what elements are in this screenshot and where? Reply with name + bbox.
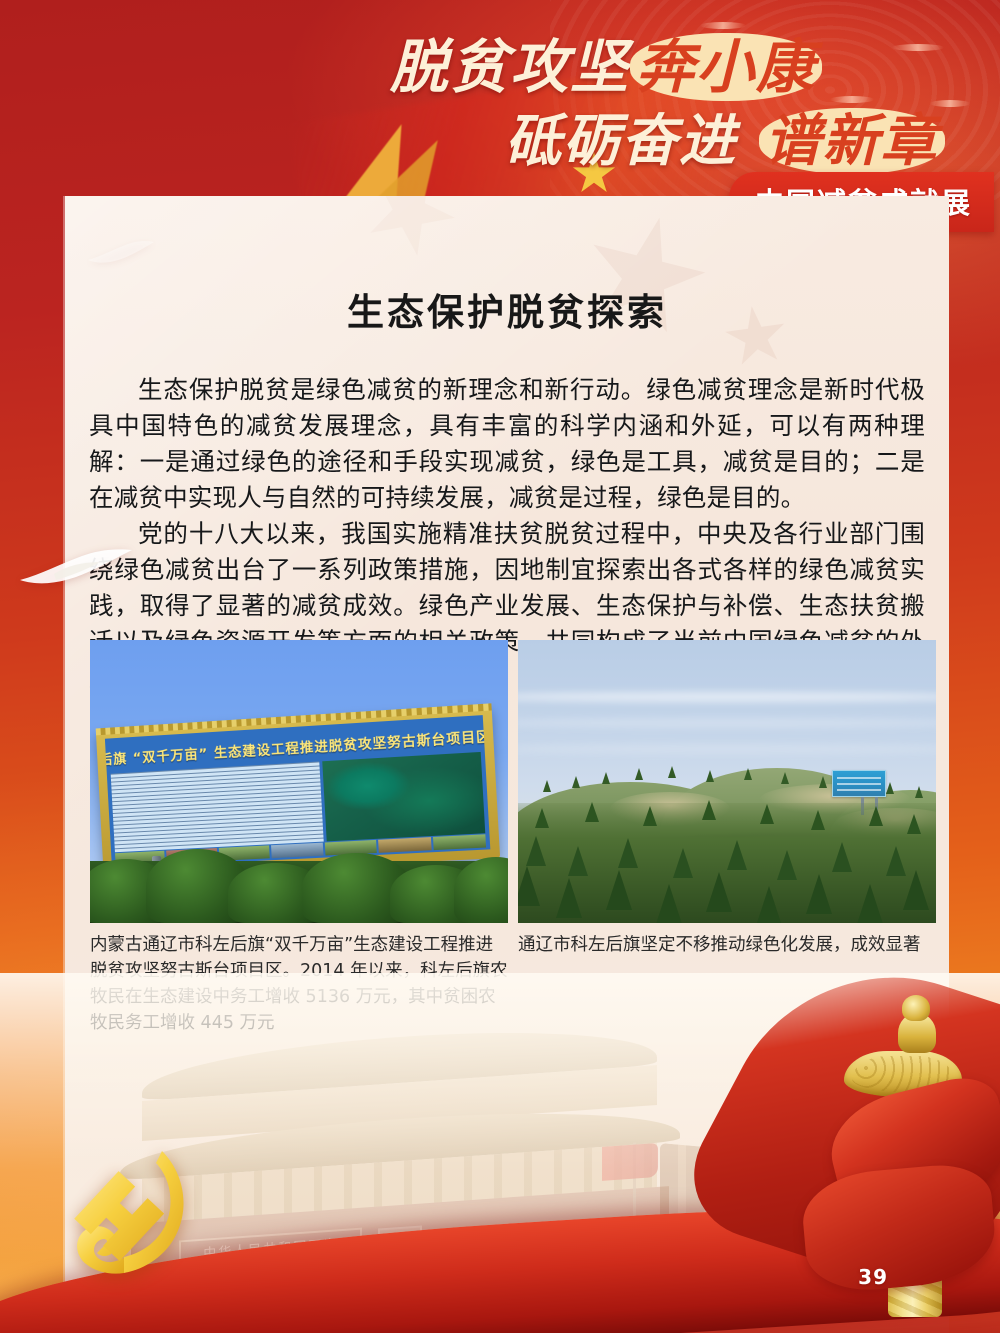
pine-sapling [618, 838, 638, 868]
headline-line-1-highlight: 奔小康 [630, 33, 822, 101]
pine-sapling [907, 814, 921, 834]
pine-sapling [857, 884, 883, 923]
pine-sapling [526, 836, 546, 866]
poster-header: 脱贫攻坚奔小康 砥砺奋进 谱新章 [0, 0, 1000, 200]
pine-sapling [915, 786, 923, 798]
cloud-band [518, 744, 936, 754]
cloud-band [518, 692, 936, 702]
pine-sapling [572, 776, 580, 788]
sign-line [837, 783, 881, 785]
afforestation-photo [518, 640, 936, 923]
billboard-photo: 科左后旗 “双千万亩” 生态建设工程推进脱贫攻坚努古斯台项目区简介 [90, 640, 508, 923]
headline-line-1-plain: 脱贫攻坚 [390, 33, 630, 101]
content-panel: 生态保护脱贫探索 生态保护脱贫是绿色减贫的新理念和新行动。绿色减贫理念是新时代极… [65, 196, 949, 1333]
pine-sapling [886, 782, 894, 794]
pine-sapling [656, 884, 682, 923]
photo-figure-billboard: 科左后旗 “双千万亩” 生态建设工程推进脱贫攻坚努古斯台项目区简介 [90, 640, 508, 1036]
pine-sapling [556, 878, 582, 918]
pine-sapling [806, 874, 832, 914]
flare-dash [892, 44, 944, 51]
page-title: 生态保护脱贫探索 [65, 282, 949, 336]
pine-sapling [781, 772, 789, 784]
pine-sapling [869, 806, 883, 826]
cloud-band [518, 718, 936, 728]
pine-sapling [706, 872, 732, 912]
star-watermark [350, 196, 470, 271]
pine-sapling [606, 870, 632, 910]
pine-sapling [585, 802, 599, 822]
headline-line-2: 砥砺奋进 谱新章 [505, 96, 945, 177]
photo-figure-afforestation: 通辽市科左后旗坚定不移推动绿色化发展，成效显著 [518, 640, 936, 958]
headline-line-1: 脱贫攻坚奔小康 [390, 20, 822, 104]
billboard-map-panel [322, 752, 485, 841]
strip-thumb [378, 837, 431, 853]
pine-sapling [535, 808, 549, 828]
photo-caption: 通辽市科左后旗坚定不移推动绿色化发展，成效显著 [518, 932, 936, 958]
strip-thumb [432, 834, 486, 850]
pine-sapling [727, 840, 747, 870]
pine-sapling [643, 806, 657, 826]
headline-line-2-highlight: 谱新章 [759, 108, 945, 174]
pine-sapling [602, 772, 610, 784]
mini-billboard-sign [832, 770, 886, 797]
pine-sapling [811, 810, 825, 830]
pine-sapling [518, 866, 540, 906]
pine-sapling [744, 768, 752, 780]
pine-sapling [568, 846, 588, 876]
sign-line [837, 789, 881, 791]
pine-sapling [832, 842, 852, 872]
pine-sapling [706, 770, 714, 782]
strip-thumb [271, 843, 323, 859]
pine-sapling [756, 886, 782, 923]
poster-page: 脱贫攻坚奔小康 砥砺奋进 谱新章 中国减贫成就展 生态保护脱贫探索 生态保护脱贫… [0, 0, 1000, 1333]
pine-sapling [777, 850, 797, 880]
billboard-text-panel [111, 761, 324, 852]
photo-caption: 内蒙古通辽市科左后旗“双千万亩”生态建设工程推进脱贫攻坚努古斯台项目区。2014… [90, 932, 508, 1036]
pine-sapling [760, 804, 774, 824]
pine-sapling [903, 870, 929, 910]
pine-sapling [702, 800, 716, 820]
sign-line [837, 777, 881, 779]
headline-line-2-plain: 砥砺奋进 [505, 108, 737, 174]
pine-sapling [819, 776, 827, 788]
pine-sapling [673, 848, 693, 878]
paragraph-1: 生态保护脱贫是绿色减贫的新理念和新行动。绿色减贫理念是新时代极具中国特色的减贫发… [89, 372, 925, 516]
pine-sapling [635, 768, 643, 780]
billboard-face: 科左后旗 “双千万亩” 生态建设工程推进脱贫攻坚努古斯台项目区简介 [105, 715, 490, 868]
pine-sapling [543, 780, 551, 792]
billboard-sign: 科左后旗 “双千万亩” 生态建设工程推进脱贫攻坚努古斯台项目区简介 [96, 705, 500, 877]
pine-sapling [668, 766, 676, 778]
